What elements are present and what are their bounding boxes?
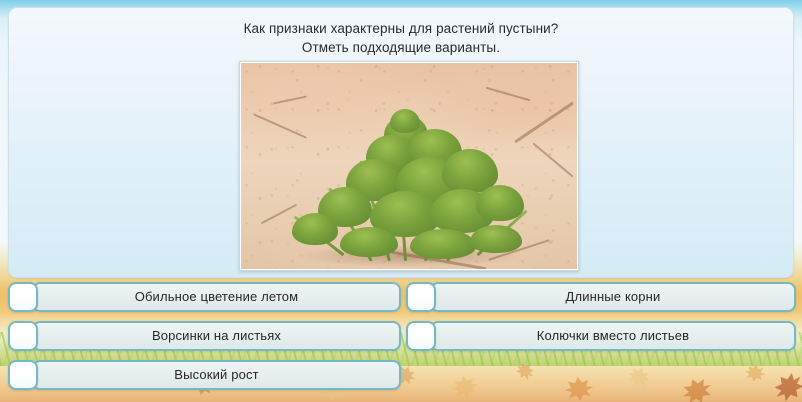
answer-options: Обильное цветение летом Ворсинки на лист… (0, 281, 802, 402)
option-label: Длинные корни (566, 289, 661, 305)
option-label: Высокий рост (174, 367, 258, 383)
option-bar[interactable]: Высокий рост (32, 360, 401, 390)
question-line-2: Отметь подходящие варианты. (9, 38, 793, 57)
question-image-frame (239, 61, 579, 271)
option-label: Обильное цветение летом (135, 289, 299, 305)
plant-foliage (390, 109, 420, 133)
option-bar[interactable]: Длинные корни (430, 282, 796, 312)
desert-plant-photo (241, 63, 577, 269)
option-row[interactable]: Обильное цветение летом (8, 281, 401, 313)
option-bar[interactable]: Ворсинки на листьях (32, 321, 401, 351)
checkbox-icon[interactable] (8, 282, 38, 312)
checkbox-icon[interactable] (8, 360, 38, 390)
plant-foliage (340, 227, 398, 257)
plant-foliage (476, 185, 524, 221)
option-row[interactable]: Колючки вместо листьев (406, 320, 796, 352)
plant-foliage (410, 229, 476, 259)
question-prompt: Как признаки характерны для растений пус… (9, 19, 793, 57)
checkbox-icon[interactable] (406, 321, 436, 351)
question-line-1: Как признаки характерны для растений пус… (244, 21, 559, 36)
quiz-panel: Как признаки характерны для растений пус… (8, 7, 794, 278)
plant-illustration (284, 101, 534, 261)
options-left-column: Обильное цветение летом Ворсинки на лист… (8, 281, 401, 398)
option-row[interactable]: Ворсинки на листьях (8, 320, 401, 352)
option-label: Колючки вместо листьев (537, 328, 690, 344)
checkbox-icon[interactable] (406, 282, 436, 312)
option-bar[interactable]: Обильное цветение летом (32, 282, 401, 312)
option-row[interactable]: Высокий рост (8, 359, 401, 391)
options-right-column: Длинные корни Колючки вместо листьев (406, 281, 796, 359)
checkbox-icon[interactable] (8, 321, 38, 351)
option-bar[interactable]: Колючки вместо листьев (430, 321, 796, 351)
plant-foliage (292, 213, 338, 245)
option-label: Ворсинки на листьях (152, 328, 281, 344)
plant-foliage (470, 225, 522, 253)
option-row[interactable]: Длинные корни (406, 281, 796, 313)
